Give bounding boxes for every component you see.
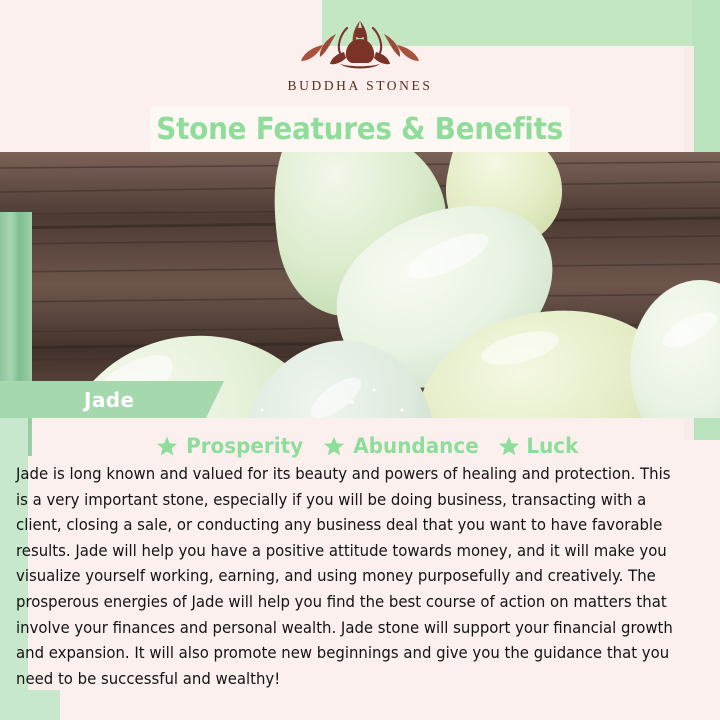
hero-caption-label: Jade — [84, 381, 134, 418]
star-icon — [156, 435, 178, 457]
lotus-meditation-icon — [292, 14, 428, 76]
benefit-label: Luck — [526, 434, 578, 458]
title-banner: Stone Features & Benefits — [150, 106, 570, 152]
page-title: Stone Features & Benefits — [157, 112, 564, 147]
benefits-row: Prosperity Abundance Luck — [28, 431, 708, 461]
benefit-label: Prosperity — [187, 434, 304, 458]
description-text: Jade is long known and valued for its be… — [16, 462, 675, 692]
infographic-page: BUDDHA STONES Stone Features & Benefits — [0, 0, 720, 720]
star-icon — [498, 435, 520, 457]
star-icon — [323, 435, 345, 457]
benefit-item: Prosperity — [156, 434, 306, 458]
benefit-item: Abundance — [323, 434, 482, 458]
jade-stones-illustration — [0, 152, 720, 418]
decor-band-bottom-left — [0, 690, 60, 720]
brand-logo: BUDDHA STONES — [0, 14, 720, 106]
benefit-item: Luck — [498, 434, 580, 458]
hero-image — [0, 152, 720, 418]
brand-name: BUDDHA STONES — [288, 78, 433, 94]
benefit-label: Abundance — [353, 434, 478, 458]
